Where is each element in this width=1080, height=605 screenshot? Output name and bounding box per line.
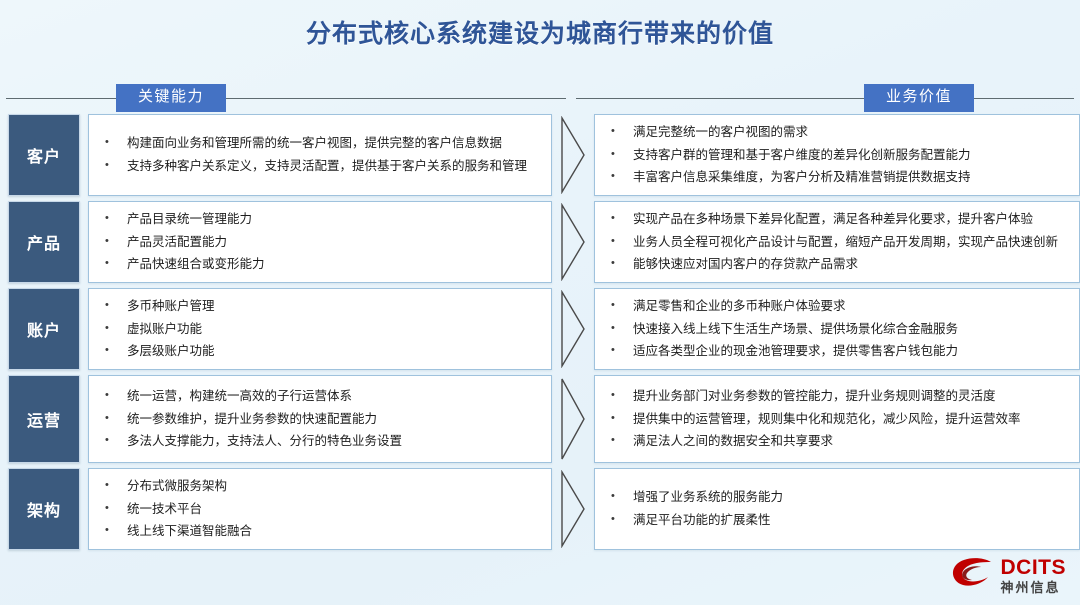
list-item: • 提升业务部门对业务参数的管控能力，提升业务规则调整的灵活度: [607, 385, 1069, 408]
list-item: • 虚拟账户功能: [101, 318, 541, 341]
list-item-text: 产品灵活配置能力: [127, 234, 541, 251]
capabilities-cell-customer: • 构建面向业务和管理所需的统一客户视图，提供完整的客户信息数据 • 支持多种客…: [88, 114, 552, 196]
list-item: • 满足法人之间的数据安全和共享要求: [607, 430, 1069, 453]
list-item: • 支持客户群的管理和基于客户维度的差异化创新服务配置能力: [607, 144, 1069, 167]
bullet-icon: •: [101, 298, 127, 314]
column-header-values: 业务价值: [576, 85, 1074, 111]
list-item: • 业务人员全程可视化产品设计与配置，缩短产品开发周期，实现产品快速创新: [607, 231, 1069, 254]
bullet-icon: •: [607, 211, 633, 227]
capabilities-cell-account: • 多币种账户管理 • 虚拟账户功能 • 多层级账户功能: [88, 288, 552, 370]
row-label-product: 产品: [8, 201, 80, 283]
bullet-icon: •: [607, 298, 633, 314]
values-cell-customer: • 满足完整统一的客户视图的需求 • 支持客户群的管理和基于客户维度的差异化创新…: [594, 114, 1080, 196]
arrow-connector-icon: [552, 288, 594, 370]
row-label-operations: 运营: [8, 375, 80, 463]
list-item: • 产品灵活配置能力: [101, 231, 541, 254]
row-label-text: 运营: [27, 407, 61, 431]
arrow-connector-icon: [552, 375, 594, 463]
capabilities-cell-architecture: • 分布式微服务架构 • 统一技术平台 • 线上线下渠道智能融合: [88, 468, 552, 550]
list-item-text: 快速接入线上线下生活生产场景、提供场景化综合金融服务: [633, 321, 1069, 338]
list-item-text: 多法人支撑能力，支持法人、分行的特色业务设置: [127, 433, 541, 450]
bullet-icon: •: [101, 158, 127, 174]
bullet-icon: •: [101, 501, 127, 517]
list-item: • 分布式微服务架构: [101, 475, 541, 498]
capabilities-cell-operations: • 统一运营，构建统一高效的子行运营体系 • 统一参数维护，提升业务参数的快速配…: [88, 375, 552, 463]
bullet-icon: •: [101, 411, 127, 427]
list-item: • 满足完整统一的客户视图的需求: [607, 121, 1069, 144]
list-item-text: 统一参数维护，提升业务参数的快速配置能力: [127, 411, 541, 428]
list-item: • 多层级账户功能: [101, 340, 541, 363]
list-item: • 增强了业务系统的服务能力: [607, 486, 1069, 509]
logo-name-en: DCITS: [1001, 557, 1067, 578]
list-item-text: 丰富客户信息采集维度，为客户分析及精准营销提供数据支持: [633, 169, 1069, 186]
bullet-icon: •: [607, 512, 633, 528]
list-item-text: 构建面向业务和管理所需的统一客户视图，提供完整的客户信息数据: [127, 135, 541, 152]
list-item-text: 统一技术平台: [127, 501, 541, 518]
arrow-connector-icon: [552, 468, 594, 550]
header-rule-left: [6, 98, 116, 99]
table-row: 运营 • 统一运营，构建统一高效的子行运营体系 • 统一参数维护，提升业务参数的…: [0, 375, 1080, 463]
list-item: • 统一运营，构建统一高效的子行运营体系: [101, 385, 541, 408]
bullet-icon: •: [607, 343, 633, 359]
table-row: 产品 • 产品目录统一管理能力 • 产品灵活配置能力 • 产品快速组合或变形能力…: [0, 201, 1080, 283]
header-rule-right: [974, 98, 1074, 99]
list-item: • 提供集中的运营管理，规则集中化和规范化，减少风险，提升运营效率: [607, 408, 1069, 431]
list-item: • 适应各类型企业的现金池管理要求，提供零售客户钱包能力: [607, 340, 1069, 363]
bullet-icon: •: [101, 321, 127, 337]
list-item-text: 提升业务部门对业务参数的管控能力，提升业务规则调整的灵活度: [633, 388, 1069, 405]
row-label-architecture: 架构: [8, 468, 80, 550]
list-item: • 支持多种客户关系定义，支持灵活配置，提供基于客户关系的服务和管理: [101, 155, 541, 178]
row-label-customer: 客户: [8, 114, 80, 196]
bullet-icon: •: [607, 124, 633, 140]
list-item-text: 满足平台功能的扩展柔性: [633, 512, 1069, 529]
list-item-text: 产品目录统一管理能力: [127, 211, 541, 228]
values-cell-architecture: • 增强了业务系统的服务能力 • 满足平台功能的扩展柔性: [594, 468, 1080, 550]
column-header-capabilities-chip: 关键能力: [116, 84, 226, 112]
list-item-text: 支持多种客户关系定义，支持灵活配置，提供基于客户关系的服务和管理: [127, 158, 541, 175]
page-title: 分布式核心系统建设为城商行带来的价值: [0, 14, 1080, 50]
bullet-icon: •: [607, 234, 633, 250]
bullet-icon: •: [101, 433, 127, 449]
list-item-text: 多层级账户功能: [127, 343, 541, 360]
header-rule-right: [226, 98, 566, 99]
list-item-text: 适应各类型企业的现金池管理要求，提供零售客户钱包能力: [633, 343, 1069, 360]
list-item: • 产品快速组合或变形能力: [101, 253, 541, 276]
list-item-text: 支持客户群的管理和基于客户维度的差异化创新服务配置能力: [633, 147, 1069, 164]
company-logo: DCITS 神州信息: [951, 556, 1067, 595]
list-item-text: 提供集中的运营管理，规则集中化和规范化，减少风险，提升运营效率: [633, 411, 1069, 428]
list-item-text: 虚拟账户功能: [127, 321, 541, 338]
column-header-values-chip: 业务价值: [864, 84, 974, 112]
list-item-text: 满足法人之间的数据安全和共享要求: [633, 433, 1069, 450]
values-cell-account: • 满足零售和企业的多币种账户体验要求 • 快速接入线上线下生活生产场景、提供场…: [594, 288, 1080, 370]
list-item-text: 能够快速应对国内客户的存贷款产品需求: [633, 256, 1069, 273]
row-label-text: 产品: [27, 230, 61, 254]
list-item-text: 多币种账户管理: [127, 298, 541, 315]
table-row: 账户 • 多币种账户管理 • 虚拟账户功能 • 多层级账户功能 •: [0, 288, 1080, 370]
row-label-text: 架构: [27, 497, 61, 521]
bullet-icon: •: [607, 147, 633, 163]
bullet-icon: •: [101, 478, 127, 494]
bullet-icon: •: [607, 256, 633, 272]
list-item-text: 满足零售和企业的多币种账户体验要求: [633, 298, 1069, 315]
values-cell-operations: • 提升业务部门对业务参数的管控能力，提升业务规则调整的灵活度 • 提供集中的运…: [594, 375, 1080, 463]
list-item: • 满足平台功能的扩展柔性: [607, 509, 1069, 532]
list-item: • 能够快速应对国内客户的存贷款产品需求: [607, 253, 1069, 276]
list-item: • 丰富客户信息采集维度，为客户分析及精准营销提供数据支持: [607, 166, 1069, 189]
row-label-text: 账户: [27, 317, 61, 341]
list-item-text: 增强了业务系统的服务能力: [633, 489, 1069, 506]
arrow-connector-icon: [552, 201, 594, 283]
dcits-swoosh-icon: [951, 556, 995, 595]
list-item-text: 满足完整统一的客户视图的需求: [633, 124, 1069, 141]
bullet-icon: •: [101, 211, 127, 227]
table-row: 客户 • 构建面向业务和管理所需的统一客户视图，提供完整的客户信息数据 • 支持…: [0, 114, 1080, 196]
bullet-icon: •: [607, 321, 633, 337]
list-item: • 满足零售和企业的多币种账户体验要求: [607, 295, 1069, 318]
arrow-connector-icon: [552, 114, 594, 196]
column-header-capabilities: 关键能力: [6, 85, 566, 111]
list-item: • 统一参数维护，提升业务参数的快速配置能力: [101, 408, 541, 431]
list-item: • 实现产品在多种场景下差异化配置，满足各种差异化要求，提升客户体验: [607, 208, 1069, 231]
list-item: • 多币种账户管理: [101, 295, 541, 318]
header-rule-left: [576, 98, 864, 99]
bullet-icon: •: [607, 388, 633, 404]
list-item: • 线上线下渠道智能融合: [101, 520, 541, 543]
bullet-icon: •: [101, 234, 127, 250]
list-item-text: 实现产品在多种场景下差异化配置，满足各种差异化要求，提升客户体验: [633, 211, 1069, 228]
list-item-text: 分布式微服务架构: [127, 478, 541, 495]
bullet-icon: •: [101, 523, 127, 539]
bullet-icon: •: [101, 343, 127, 359]
list-item-text: 线上线下渠道智能融合: [127, 523, 541, 540]
list-item-text: 统一运营，构建统一高效的子行运营体系: [127, 388, 541, 405]
list-item: • 构建面向业务和管理所需的统一客户视图，提供完整的客户信息数据: [101, 132, 541, 155]
bullet-icon: •: [101, 135, 127, 151]
bullet-icon: •: [607, 169, 633, 185]
row-label-text: 客户: [27, 143, 61, 167]
bullet-icon: •: [607, 433, 633, 449]
list-item: • 快速接入线上线下生活生产场景、提供场景化综合金融服务: [607, 318, 1069, 341]
list-item: • 多法人支撑能力，支持法人、分行的特色业务设置: [101, 430, 541, 453]
bullet-icon: •: [101, 256, 127, 272]
values-cell-product: • 实现产品在多种场景下差异化配置，满足各种差异化要求，提升客户体验 • 业务人…: [594, 201, 1080, 283]
capabilities-cell-product: • 产品目录统一管理能力 • 产品灵活配置能力 • 产品快速组合或变形能力: [88, 201, 552, 283]
bullet-icon: •: [607, 411, 633, 427]
bullet-icon: •: [607, 489, 633, 505]
row-label-account: 账户: [8, 288, 80, 370]
logo-wordmark: DCITS 神州信息: [1001, 557, 1067, 594]
list-item-text: 产品快速组合或变形能力: [127, 256, 541, 273]
bullet-icon: •: [101, 388, 127, 404]
list-item-text: 业务人员全程可视化产品设计与配置，缩短产品开发周期，实现产品快速创新: [633, 234, 1069, 251]
table-row: 架构 • 分布式微服务架构 • 统一技术平台 • 线上线下渠道智能融合 •: [0, 468, 1080, 550]
list-item: • 产品目录统一管理能力: [101, 208, 541, 231]
logo-name-cn: 神州信息: [1001, 581, 1067, 594]
list-item: • 统一技术平台: [101, 498, 541, 521]
